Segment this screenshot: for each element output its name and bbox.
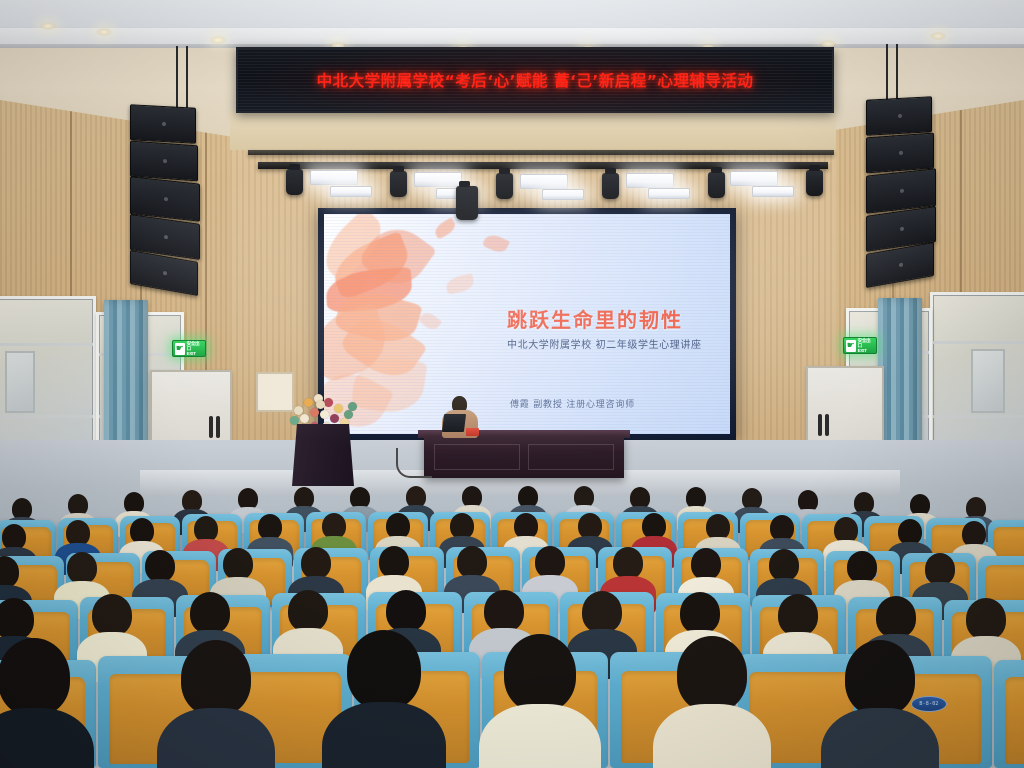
ceiling-downlight [96,28,112,36]
speaker-rigging-wire [896,44,898,100]
slide-subtitle: 中北大学附属学校 初二年级学生心理讲座 [507,336,727,351]
led-panel-light [520,174,568,189]
ceiling-downlight [210,36,226,44]
flower-petal [325,267,414,313]
projection-screen: 跳跃生命里的韧性 中北大学附属学校 初二年级学生心理讲座 傅霞 副教授 注册心理… [318,208,736,440]
auditorium-seat[interactable] [994,660,1024,768]
line-array-speaker-left [130,106,200,290]
back-wall-upper [230,110,836,154]
curtain-right [878,298,922,454]
curtain-left [104,300,148,452]
ceiling-downlight [40,22,56,30]
running-man-icon: ☛ [175,343,185,355]
line-array-speaker-right [866,98,936,282]
floating-petal [482,232,510,255]
led-panel-light [626,173,674,188]
led-panel-light-lower [648,188,690,199]
slide-title: 跳跃生命里的韧性 [507,304,722,333]
led-panel-light [730,171,778,186]
led-banner-text: 中北大学附属学校“考后‘心’赋能 蓄‘己’新启程”心理辅导活动 [317,69,754,91]
running-man-icon: ☛ [846,340,856,352]
window-left-1 [0,296,96,462]
fresnel-stage-light [496,173,513,199]
fresnel-stage-light [286,169,303,195]
projected-slide: 跳跃生命里的韧性 中北大学附属学校 初二年级学生心理讲座 傅霞 副教授 注册心理… [324,214,730,434]
speaker-rigging-wire [176,46,178,108]
lighting-truss [258,162,828,169]
led-panel-light-lower [330,186,372,197]
flower-petal [357,216,437,295]
podium [292,424,354,486]
speaker-rigging-wire [186,46,188,108]
flower-petal [327,231,416,301]
fresnel-stage-light-large [456,186,478,220]
window-right-1 [930,292,1024,464]
led-panel-light-lower [752,186,794,197]
speaker-rigging-wire [886,44,888,100]
flower-petal [338,306,427,389]
exit-sign-right: ☛ 安全出口EXIT [843,337,877,354]
presenter-table [424,436,624,478]
floor-cable [396,448,432,478]
flower-petal [351,353,428,416]
flower-petal [324,214,391,283]
exit-sign-right-text: 安全出口EXIT [858,338,874,353]
led-banner: 中北大学附属学校“考后‘心’赋能 蓄‘己’新启程”心理辅导活动 [236,47,834,113]
slide-presenter: 傅霞 副教授 注册心理咨询师 [510,397,730,410]
floating-petal [418,309,442,333]
lighting-truss-secondary [248,150,834,155]
auditorium-photo: 中北大学附属学校“考后‘心’赋能 蓄‘己’新启程”心理辅导活动 [0,0,1024,768]
floating-petal [445,273,476,294]
flower-petal [333,284,423,350]
ceiling-downlight [930,32,946,40]
seat-number-badge: B-8-02 [911,696,947,712]
exit-sign-left-text: 安全出口EXIT [187,341,203,356]
led-panel-light [414,172,462,187]
flower-petal [324,302,394,383]
floating-petal [432,217,458,239]
led-panel-light [310,170,358,185]
fresnel-stage-light [708,172,725,198]
laptop [442,414,466,432]
name-card [466,428,479,436]
exit-sign-left: ☛ 安全出口EXIT [172,340,206,357]
fresnel-stage-light [602,173,619,199]
fresnel-stage-light [390,171,407,197]
fresnel-stage-light [806,170,823,196]
led-panel-light-lower [542,189,584,200]
